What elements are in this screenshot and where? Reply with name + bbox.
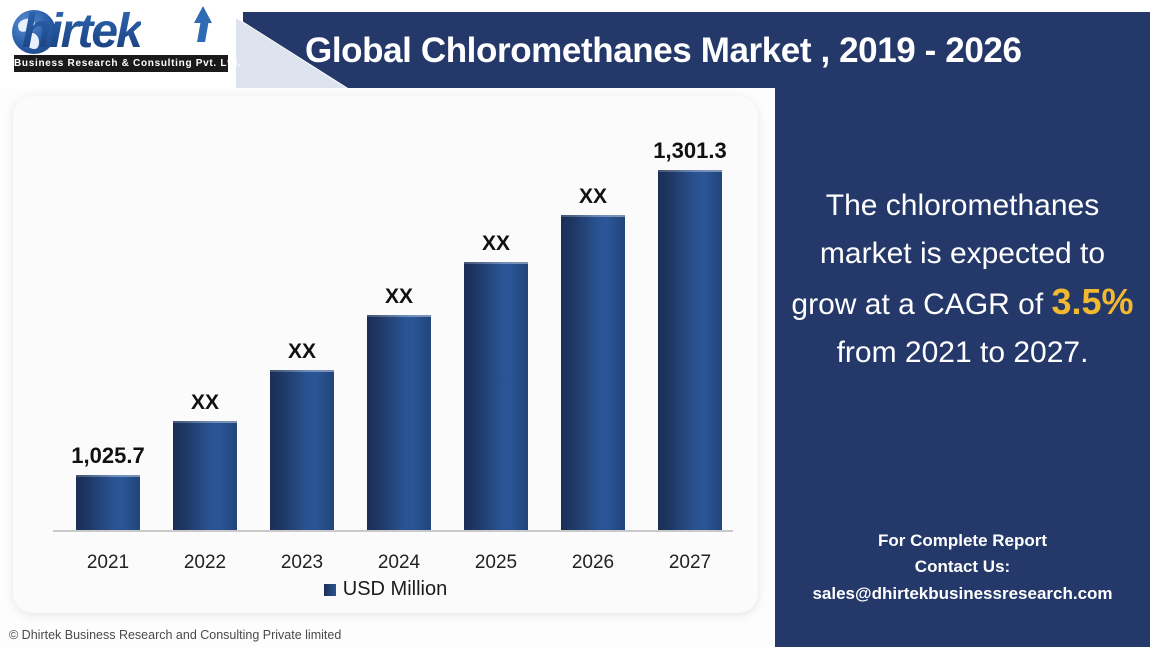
chart-legend: USD Million — [13, 578, 758, 601]
logo-tagline: Business Research & Consulting Pvt. Ltd. — [14, 55, 228, 72]
bar-2023 — [270, 370, 334, 530]
bar-top-highlight — [464, 262, 528, 264]
bar-top-highlight — [270, 370, 334, 372]
bar-value-label-2022: XX — [173, 391, 237, 415]
bar-top-highlight — [173, 421, 237, 423]
contact-email[interactable]: sales@dhirtekbusinessresearch.com — [785, 580, 1140, 608]
page-title: Global Chloromethanes Market , 2019 - 20… — [305, 28, 1145, 78]
company-logo: hirtek Business Research & Consulting Pv… — [8, 4, 238, 76]
x-axis-label-2024: 2024 — [354, 552, 444, 574]
legend-swatch-icon — [324, 584, 336, 596]
bar-chart-plot: 1,025.72021XX2022XX2023XX2024XX2025XX202… — [40, 108, 740, 532]
x-axis-label-2025: 2025 — [451, 552, 541, 574]
x-axis-line — [53, 530, 733, 532]
bar-2025 — [464, 262, 528, 530]
bar-top-highlight — [76, 475, 140, 477]
x-axis-label-2022: 2022 — [160, 552, 250, 574]
infographic-root: Global Chloromethanes Market , 2019 - 20… — [0, 0, 1150, 647]
logo-wordmark: hirtek — [22, 4, 141, 59]
bar-2027 — [658, 170, 722, 530]
x-axis-label-2021: 2021 — [63, 552, 153, 574]
x-axis-label-2023: 2023 — [257, 552, 347, 574]
x-axis-label-2027: 2027 — [645, 552, 735, 574]
bar-value-label-2023: XX — [270, 340, 334, 364]
bar-value-label-2021: 1,025.7 — [48, 443, 168, 469]
statement-part-2: from 2021 to 2027. — [837, 336, 1089, 369]
bar-value-label-2026: XX — [561, 185, 625, 209]
bar-top-highlight — [658, 170, 722, 172]
bar-2022 — [173, 421, 237, 530]
x-axis-label-2026: 2026 — [548, 552, 638, 574]
copyright-footer: © Dhirtek Business Research and Consulti… — [9, 628, 341, 642]
bar-value-label-2025: XX — [464, 232, 528, 256]
bar-top-highlight — [367, 315, 431, 317]
contact-subheading: Contact Us: — [785, 554, 1140, 580]
legend-label: USD Million — [343, 578, 447, 601]
bar-top-highlight — [561, 215, 625, 217]
contact-heading: For Complete Report — [785, 528, 1140, 554]
side-panel: The chloromethanes market is expected to… — [775, 88, 1150, 647]
contact-block: For Complete Report Contact Us: sales@dh… — [785, 528, 1140, 608]
bar-value-label-2024: XX — [367, 285, 431, 309]
growth-arrow-stem-icon — [197, 20, 209, 42]
market-statement: The chloromethanes market is expected to… — [791, 182, 1134, 377]
bar-2026 — [561, 215, 625, 530]
chart-card: 1,025.72021XX2022XX2023XX2024XX2025XX202… — [13, 96, 758, 613]
bar-value-label-2027: 1,301.3 — [630, 138, 750, 164]
bar-2021 — [76, 475, 140, 530]
bar-2024 — [367, 315, 431, 530]
cagr-value: 3.5% — [1052, 281, 1134, 322]
header-band: Global Chloromethanes Market , 2019 - 20… — [0, 0, 1150, 88]
